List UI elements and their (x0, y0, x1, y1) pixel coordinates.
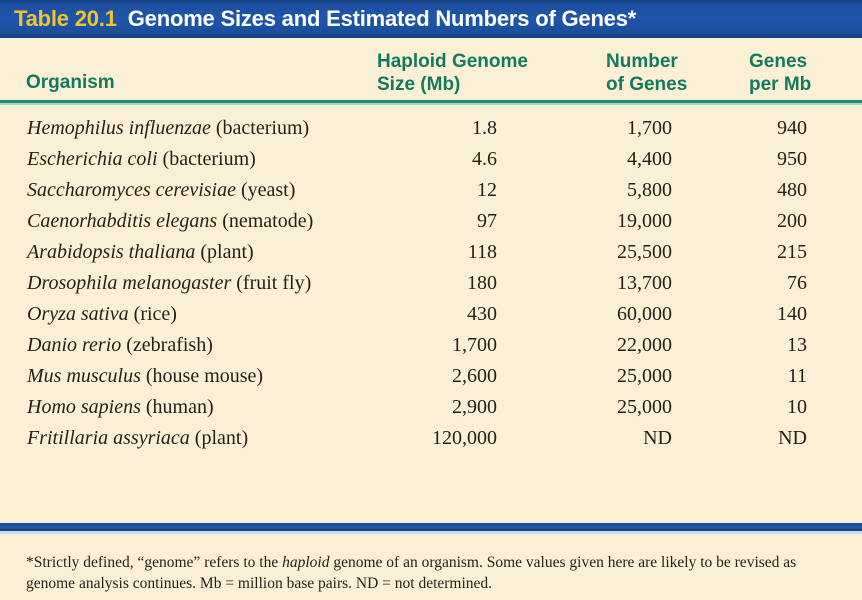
column-header-genome-size: Haploid Genome Size (Mb) (377, 50, 528, 96)
footer-divider-rule (0, 523, 862, 531)
table-title-bar: Table 20.1 Genome Sizes and Estimated Nu… (0, 0, 862, 38)
cell-genome-size: 1.8 (337, 117, 497, 140)
organism-scientific-name: Mus musculus (27, 365, 141, 387)
cell-number-of-genes: 25,000 (512, 396, 672, 419)
organism-common-name: (nematode) (217, 210, 313, 232)
cell-number-of-genes: 13,700 (512, 272, 672, 295)
organism-common-name: (bacterium) (211, 117, 309, 139)
cell-number-of-genes: 19,000 (512, 210, 672, 233)
organism-common-name: (house mouse) (141, 365, 263, 387)
table-number: Table 20.1 (14, 6, 117, 32)
cell-genome-size: 120,000 (337, 427, 497, 450)
cell-organism: Drosophila melanogaster (fruit fly) (27, 272, 311, 295)
organism-scientific-name: Oryza sativa (27, 303, 129, 325)
footnote-italic-term: haploid (282, 554, 329, 571)
organism-scientific-name: Drosophila melanogaster (27, 272, 231, 294)
header-divider-rule (0, 100, 862, 103)
cell-genes-per-mb: 76 (687, 272, 807, 295)
cell-number-of-genes: 4,400 (512, 148, 672, 171)
organism-common-name: (bacterium) (158, 148, 256, 170)
table-figure: Table 20.1 Genome Sizes and Estimated Nu… (0, 0, 862, 600)
cell-organism: Saccharomyces cerevisiae (yeast) (27, 179, 295, 202)
table-row: Homo sapiens (human)2,90025,00010 (0, 394, 862, 425)
organism-common-name: (human) (141, 396, 214, 418)
cell-organism: Danio rerio (zebrafish) (27, 334, 213, 357)
cell-organism: Fritillaria assyriaca (plant) (27, 427, 248, 450)
organism-common-name: (plant) (195, 241, 253, 263)
table-row: Hemophilus influenzae (bacterium)1.81,70… (0, 115, 862, 146)
cell-number-of-genes: 25,000 (512, 365, 672, 388)
organism-common-name: (zebrafish) (121, 334, 213, 356)
cell-number-of-genes: 1,700 (512, 117, 672, 140)
table-header-row: Organism Haploid Genome Size (Mb) Number… (0, 38, 862, 100)
organism-scientific-name: Hemophilus influenzae (27, 117, 211, 139)
cell-genes-per-mb: 200 (687, 210, 807, 233)
column-header-organism: Organism (26, 71, 115, 94)
cell-genome-size: 430 (337, 303, 497, 326)
cell-genome-size: 180 (337, 272, 497, 295)
cell-genes-per-mb: 215 (687, 241, 807, 264)
table-row: Caenorhabditis elegans (nematode)9719,00… (0, 208, 862, 239)
organism-scientific-name: Saccharomyces cerevisiae (27, 179, 236, 201)
organism-common-name: (plant) (190, 427, 248, 449)
cell-genes-per-mb: 140 (687, 303, 807, 326)
table-row: Saccharomyces cerevisiae (yeast)125,8004… (0, 177, 862, 208)
cell-genome-size: 2,600 (337, 365, 497, 388)
organism-scientific-name: Fritillaria assyriaca (27, 427, 190, 449)
cell-number-of-genes: 5,800 (512, 179, 672, 202)
cell-organism: Escherichia coli (bacterium) (27, 148, 256, 171)
cell-number-of-genes: 22,000 (512, 334, 672, 357)
organism-scientific-name: Danio rerio (27, 334, 121, 356)
cell-organism: Hemophilus influenzae (bacterium) (27, 117, 309, 140)
table-row: Fritillaria assyriaca (plant)120,000NDND (0, 425, 862, 456)
column-header-genes-per-mb: Genes per Mb (749, 50, 811, 96)
cell-organism: Arabidopsis thaliana (plant) (27, 241, 254, 264)
organism-common-name: (fruit fly) (231, 272, 311, 294)
table-body: Hemophilus influenzae (bacterium)1.81,70… (0, 104, 862, 456)
cell-number-of-genes: ND (512, 427, 672, 450)
cell-genes-per-mb: 480 (687, 179, 807, 202)
cell-genes-per-mb: 10 (687, 396, 807, 419)
cell-genes-per-mb: 13 (687, 334, 807, 357)
table-title: Genome Sizes and Estimated Numbers of Ge… (128, 6, 636, 32)
cell-number-of-genes: 60,000 (512, 303, 672, 326)
cell-genome-size: 2,900 (337, 396, 497, 419)
cell-genome-size: 12 (337, 179, 497, 202)
column-header-number-of-genes: Number of Genes (606, 50, 687, 96)
organism-scientific-name: Escherichia coli (27, 148, 158, 170)
cell-genes-per-mb: 950 (687, 148, 807, 171)
organism-common-name: (rice) (129, 303, 177, 325)
cell-genome-size: 4.6 (337, 148, 497, 171)
cell-genome-size: 1,700 (337, 334, 497, 357)
cell-genes-per-mb: 940 (687, 117, 807, 140)
organism-scientific-name: Homo sapiens (27, 396, 141, 418)
organism-common-name: (yeast) (236, 179, 295, 201)
table-row: Escherichia coli (bacterium)4.64,400950 (0, 146, 862, 177)
table-row: Arabidopsis thaliana (plant)11825,500215 (0, 239, 862, 270)
cell-organism: Homo sapiens (human) (27, 396, 214, 419)
cell-genome-size: 118 (337, 241, 497, 264)
cell-number-of-genes: 25,500 (512, 241, 672, 264)
table-footnote: *Strictly defined, “genome” refers to th… (26, 552, 838, 594)
table-row: Drosophila melanogaster (fruit fly)18013… (0, 270, 862, 301)
table-row: Danio rerio (zebrafish)1,70022,00013 (0, 332, 862, 363)
footnote-part-1: *Strictly defined, “genome” refers to th… (26, 554, 282, 571)
cell-genes-per-mb: 11 (687, 365, 807, 388)
organism-scientific-name: Caenorhabditis elegans (27, 210, 217, 232)
organism-scientific-name: Arabidopsis thaliana (27, 241, 195, 263)
cell-genome-size: 97 (337, 210, 497, 233)
cell-organism: Caenorhabditis elegans (nematode) (27, 210, 313, 233)
cell-organism: Oryza sativa (rice) (27, 303, 177, 326)
cell-organism: Mus musculus (house mouse) (27, 365, 263, 388)
table-row: Mus musculus (house mouse)2,60025,00011 (0, 363, 862, 394)
table-row: Oryza sativa (rice)43060,000140 (0, 301, 862, 332)
cell-genes-per-mb: ND (687, 427, 807, 450)
